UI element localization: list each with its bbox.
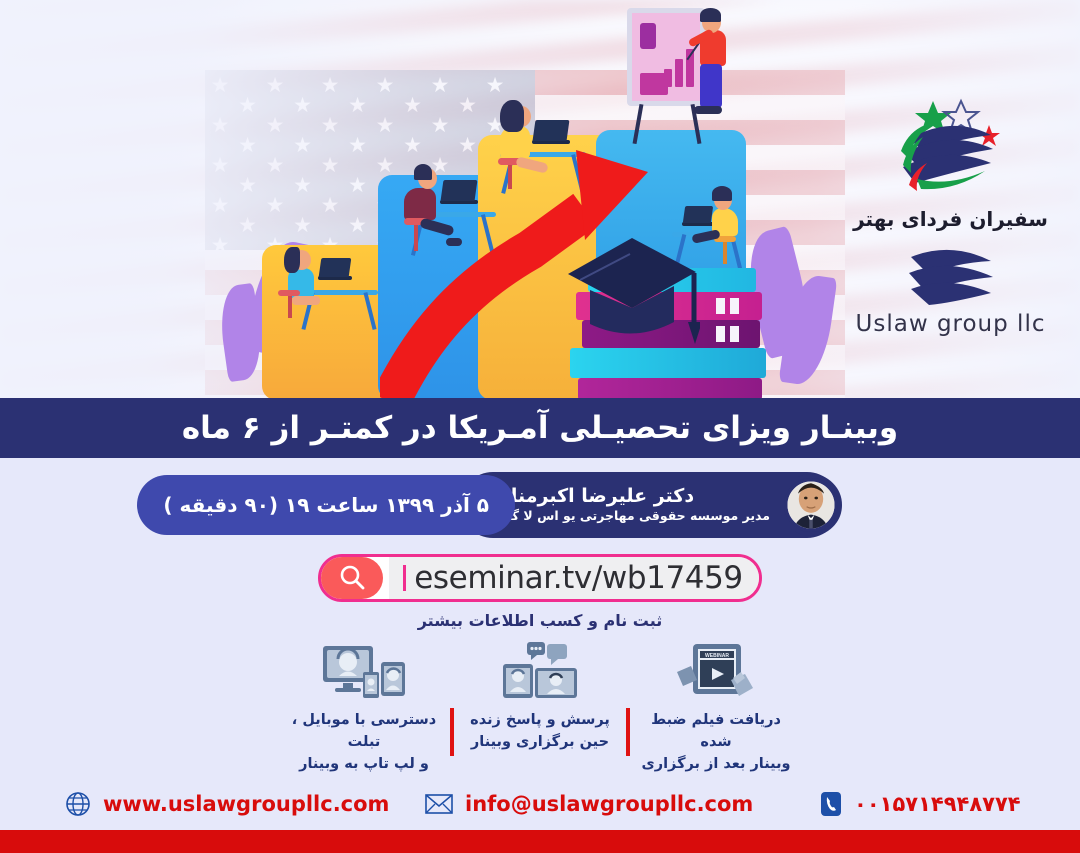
speaker-name: دکتر علیرضا اکبرمنادی bbox=[484, 486, 694, 508]
feature-live-qa: پرسش و پاسخ زنده حین برگزاری وبینار bbox=[454, 640, 626, 754]
feature-separator bbox=[626, 708, 630, 756]
envelope-icon bbox=[425, 793, 453, 815]
url-search-bar[interactable]: eseminar.tv/wb17459 bbox=[318, 554, 762, 602]
logo-group: سفیران فردای بهتر Uslaw group llc bbox=[843, 95, 1058, 337]
safiran-logo-caption: سفیران فردای بهتر bbox=[853, 207, 1048, 231]
graduation-cap-icon bbox=[560, 228, 700, 353]
webinar-poster: ★★★★★★★★★★★★★★★★★★★★★★★★★★★★★★★★★★★★★★★★… bbox=[0, 0, 1080, 853]
speaker-schedule-row: دکتر علیرضا اکبرمنادی مدیر موسسه حقوقی م… bbox=[0, 470, 1080, 544]
safiran-logo: سفیران فردای بهتر bbox=[853, 95, 1048, 231]
feature-line-1: پرسش و پاسخ زنده bbox=[470, 712, 610, 728]
schedule-badge: ۵ آذر ۱۳۹۹ ساعت ۱۹ (۹۰ دقیقه ) bbox=[137, 475, 515, 535]
uslaw-group-logo: Uslaw group llc bbox=[856, 247, 1046, 337]
avatar bbox=[780, 474, 842, 536]
title-band: وبینـار ویزای تحصیـلی آمـریکا در کمتـر ا… bbox=[0, 398, 1080, 458]
search-icon bbox=[337, 563, 367, 593]
uslaw-logo-mark bbox=[903, 247, 999, 309]
registration-caption: ثبت نام و کسب اطلاعات بیشتر bbox=[418, 611, 663, 630]
live-qa-icon bbox=[497, 642, 583, 700]
registration-url: eseminar.tv/wb17459 bbox=[414, 560, 743, 596]
phone-text: ۰۰۱۵۷۱۴۹۴۸۷۷۴ bbox=[854, 792, 1021, 816]
footer-red-bar bbox=[0, 830, 1080, 853]
speaker-role: مدیر موسسه حقوقی مهاجرتی یو اس لا گروپ bbox=[484, 508, 770, 524]
features-row: دسترسی با موبایل ، تبلت و لپ تاپ به وبین… bbox=[0, 640, 1080, 775]
text-caret bbox=[403, 565, 406, 591]
recorded-video-icon: WEBINAR bbox=[673, 642, 759, 700]
url-input[interactable]: eseminar.tv/wb17459 bbox=[389, 557, 759, 599]
feature-devices-access: دسترسی با موبایل ، تبلت و لپ تاپ به وبین… bbox=[278, 640, 450, 775]
feature-line-2: و لپ تاپ به وبینار bbox=[299, 756, 429, 772]
schedule-text: ۵ آذر ۱۳۹۹ ساعت ۱۹ (۹۰ دقیقه ) bbox=[163, 493, 489, 517]
contact-email[interactable]: info@uslawgroupllc.com bbox=[425, 792, 753, 816]
feature-devices-text: دسترسی با موبایل ، تبلت و لپ تاپ به وبین… bbox=[284, 710, 444, 775]
feature-line-2: حین برگزاری وبینار bbox=[471, 734, 609, 750]
feature-line-2: وبینار بعد از برگزاری bbox=[641, 756, 790, 772]
feature-line-1: دریافت فیلم ضبط شده bbox=[651, 712, 781, 750]
devices-access-icon bbox=[321, 642, 407, 700]
website-text: www.uslawgroupllc.com bbox=[103, 792, 389, 816]
email-text: info@uslawgroupllc.com bbox=[465, 792, 753, 816]
phone-icon bbox=[820, 791, 842, 817]
feature-live-qa-text: پرسش و پاسخ زنده حین برگزاری وبینار bbox=[470, 710, 610, 754]
svg-text:WEBINAR: WEBINAR bbox=[705, 653, 729, 659]
feature-recorded-text: دریافت فیلم ضبط شده وبینار بعد از برگزار… bbox=[636, 710, 796, 775]
feature-separator bbox=[450, 708, 454, 756]
feature-recorded-video: WEBINAR دریافت فیلم ضبط شده وبینار بعد ا… bbox=[630, 640, 802, 775]
contact-phone[interactable]: ۰۰۱۵۷۱۴۹۴۸۷۷۴ bbox=[820, 791, 1021, 817]
page-title: وبینـار ویزای تحصیـلی آمـریکا در کمتـر ا… bbox=[182, 410, 898, 446]
search-button[interactable] bbox=[321, 557, 383, 599]
uslaw-logo-caption: Uslaw group llc bbox=[856, 311, 1046, 337]
speaker-portrait bbox=[784, 478, 838, 532]
contact-website[interactable]: www.uslawgroupllc.com bbox=[65, 791, 389, 817]
feature-line-1: دسترسی با موبایل ، تبلت bbox=[292, 712, 436, 750]
registration-block: eseminar.tv/wb17459 ثبت نام و کسب اطلاعا… bbox=[0, 554, 1080, 630]
globe-icon bbox=[65, 791, 91, 817]
safiran-logo-mark bbox=[887, 95, 1015, 203]
footer-contacts: www.uslawgroupllc.com info@uslawgroupllc… bbox=[0, 780, 1080, 828]
